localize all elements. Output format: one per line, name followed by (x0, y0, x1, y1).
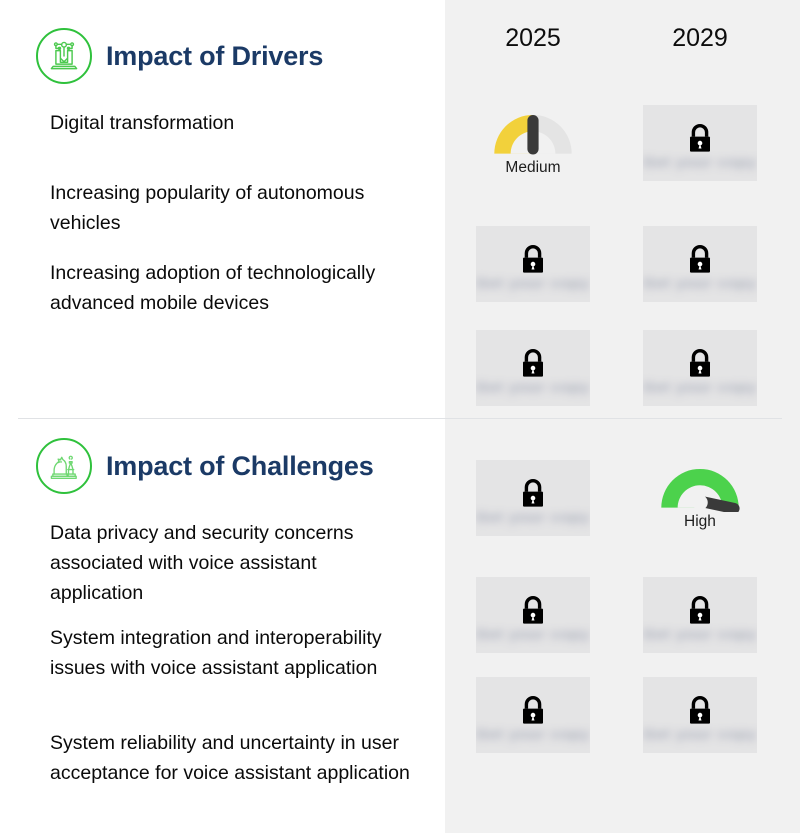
section-title-drivers: Impact of Drivers (106, 43, 323, 70)
locked-cell[interactable]: Get your copy (643, 677, 757, 753)
lock-icon (685, 243, 715, 284)
cell-challenges-3-2025: Get your copy (473, 677, 593, 753)
cell-drivers-2-2029: Get your copy (640, 226, 760, 302)
lock-icon (518, 694, 548, 735)
locked-cell[interactable]: Get your copy (476, 677, 590, 753)
locked-cell[interactable]: Get your copy (643, 105, 757, 181)
gauge-high: High (640, 462, 760, 530)
locked-cell[interactable]: Get your copy (643, 330, 757, 406)
lock-icon (518, 594, 548, 635)
lock-icon (685, 694, 715, 735)
driver-item-3: Increasing adoption of technologically a… (50, 258, 410, 318)
gauge-dial (490, 108, 576, 158)
cell-challenges-3-2029: Get your copy (640, 677, 760, 753)
lock-icon (685, 347, 715, 388)
cell-drivers-1-2025: Medium (473, 108, 593, 176)
gauge-medium: Medium (473, 108, 593, 176)
cell-challenges-1-2025: Get your copy (473, 460, 593, 536)
cell-drivers-1-2029: Get your copy (640, 105, 760, 181)
cell-drivers-3-2025: Get your copy (473, 330, 593, 406)
impact-matrix-page: Impact of Drivers Digital transformation… (0, 0, 800, 833)
section-header-challenges: Impact of Challenges (36, 438, 374, 494)
lock-icon (518, 477, 548, 518)
cell-challenges-2-2029: Get your copy (640, 577, 760, 653)
cell-drivers-3-2029: Get your copy (640, 330, 760, 406)
gauge-dial (657, 462, 743, 512)
chess-pieces-icon (36, 438, 92, 494)
driver-item-1: Digital transformation (50, 108, 410, 138)
column-header-2029: 2029 (640, 24, 760, 53)
gauge-label: High (684, 514, 716, 530)
driver-item-2: Increasing popularity of autonomous vehi… (50, 178, 410, 238)
section-divider (18, 418, 782, 419)
locked-cell[interactable]: Get your copy (643, 577, 757, 653)
section-header-drivers: Impact of Drivers (36, 28, 323, 84)
cell-challenges-1-2029: High (640, 462, 760, 530)
locked-cell[interactable]: Get your copy (476, 460, 590, 536)
locked-cell[interactable]: Get your copy (476, 330, 590, 406)
digital-transformation-icon (36, 28, 92, 84)
locked-cell[interactable]: Get your copy (476, 226, 590, 302)
column-header-2025: 2025 (473, 24, 593, 53)
lock-icon (685, 122, 715, 163)
gauge-label: Medium (505, 160, 560, 176)
locked-cell[interactable]: Get your copy (643, 226, 757, 302)
locked-cell[interactable]: Get your copy (476, 577, 590, 653)
challenge-item-3: System reliability and uncertainty in us… (50, 728, 410, 788)
lock-icon (518, 347, 548, 388)
section-title-challenges: Impact of Challenges (106, 453, 374, 480)
cell-drivers-2-2025: Get your copy (473, 226, 593, 302)
cell-challenges-2-2025: Get your copy (473, 577, 593, 653)
challenge-item-1: Data privacy and security concerns assoc… (50, 518, 410, 608)
lock-icon (685, 594, 715, 635)
lock-icon (518, 243, 548, 284)
challenge-item-2: System integration and interoperability … (50, 623, 410, 683)
